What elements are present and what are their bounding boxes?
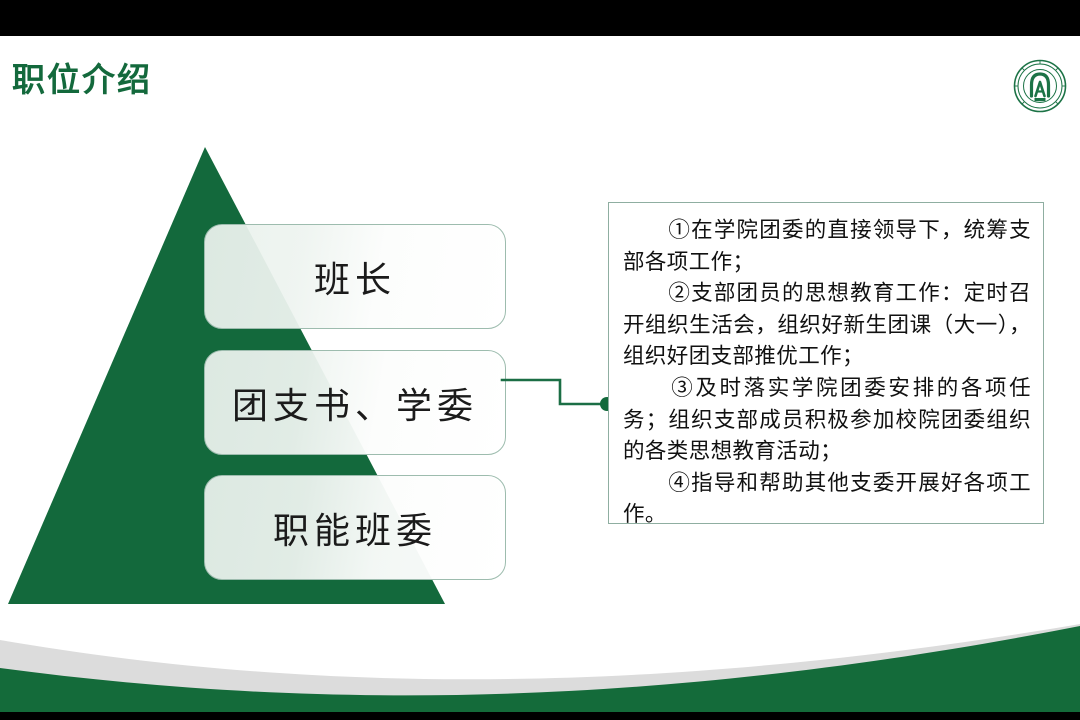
university-seal-logo	[1012, 58, 1068, 114]
bottom-wave-decoration	[0, 562, 1080, 712]
tier-label: 团支书、学委	[232, 377, 478, 429]
description-panel: ①在学院团委的直接领导下，统筹支部各项工作； ②支部团员的思想教育工作：定时召开…	[608, 202, 1044, 524]
pyramid-tier-banzhang[interactable]: 班长	[204, 224, 506, 329]
letterbox-bar-top	[0, 0, 1080, 36]
pyramid-diagram: 班长 团支书、学委 职能班委	[0, 36, 560, 636]
description-text: ①在学院团委的直接领导下，统筹支部各项工作； ②支部团员的思想教育工作：定时召开…	[623, 215, 1031, 531]
letterbox-bar-bottom	[0, 712, 1080, 720]
tier-label: 班长	[314, 251, 396, 303]
tier-label: 职能班委	[273, 502, 437, 554]
slide-canvas: 职位介绍	[0, 36, 1080, 712]
pyramid-tier-tuanzhishu-xuewei[interactable]: 团支书、学委	[204, 350, 506, 455]
slide-root: 职位介绍	[0, 0, 1080, 720]
